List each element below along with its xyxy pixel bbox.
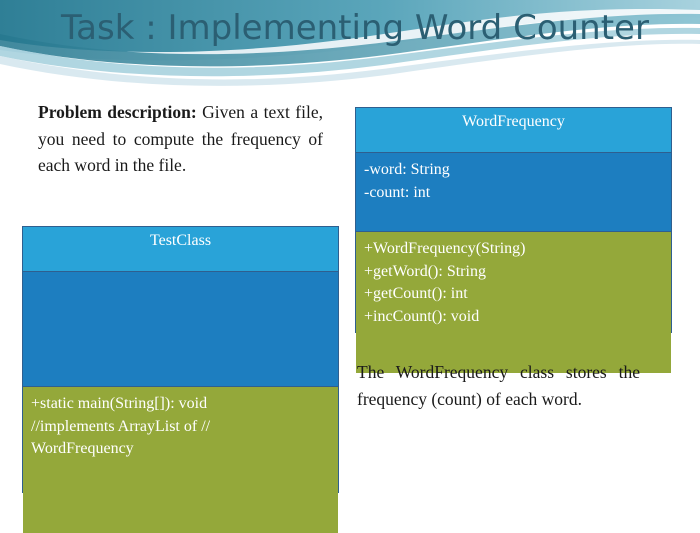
uml-operation: //implements ArrayList of // — [31, 416, 330, 439]
uml-operation: WordFrequency — [31, 438, 330, 461]
uml-class-testclass: TestClass +static main(String[]): void /… — [22, 226, 339, 493]
uml-operations-testclass: +static main(String[]): void //implement… — [23, 387, 338, 533]
uml-operation: +getCount(): int — [364, 283, 663, 306]
uml-operation: +incCount(): void — [364, 306, 663, 329]
uml-operation: +static main(String[]): void — [31, 393, 330, 416]
uml-class-name-wordfrequency: WordFrequency — [356, 108, 671, 153]
uml-attributes-wordfrequency: -word: String -count: int — [356, 153, 671, 232]
problem-description: Problem description: Given a text file, … — [38, 99, 323, 179]
uml-attribute: -word: String — [364, 159, 663, 182]
page-title: Task : Implementing Word Counter — [60, 8, 650, 49]
uml-operation: +getWord(): String — [364, 261, 663, 284]
problem-description-label: Problem description: — [38, 102, 197, 122]
uml-attribute: -count: int — [364, 182, 663, 205]
wordfrequency-description: The WordFrequency class stores the frequ… — [357, 359, 640, 412]
uml-operations-wordfrequency: +WordFrequency(String) +getWord(): Strin… — [356, 232, 671, 373]
uml-class-name-testclass: TestClass — [23, 227, 338, 272]
uml-attributes-testclass — [23, 272, 338, 387]
uml-operation: +WordFrequency(String) — [364, 238, 663, 261]
uml-class-wordfrequency: WordFrequency -word: String -count: int … — [355, 107, 672, 333]
